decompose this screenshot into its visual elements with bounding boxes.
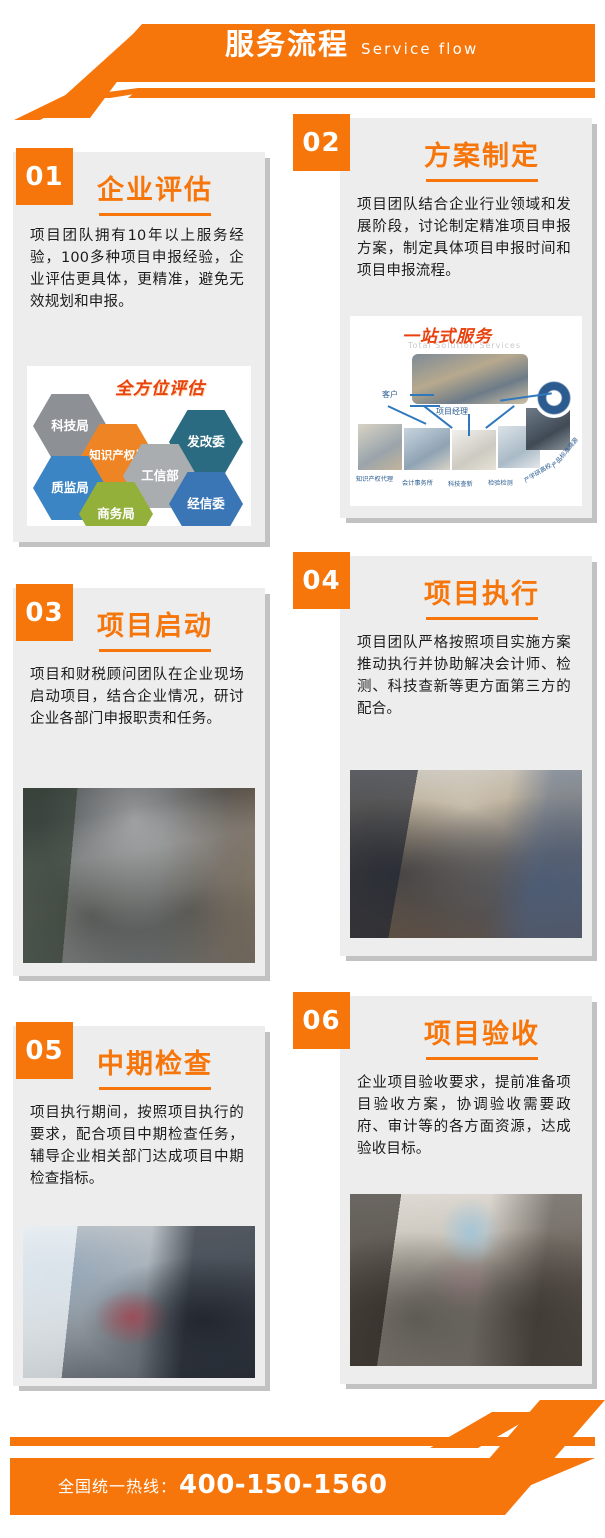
photo-detail — [350, 1194, 582, 1366]
photo-workshop-04 — [350, 770, 582, 938]
arrow-far-left — [388, 405, 427, 425]
step-card-06[interactable]: 06 项目验收 企业项目验收要求，提前准备项目验收方案，协调验收需要政府、审计等… — [340, 996, 592, 1384]
hotline-group: 全国统一热线： 400-150-1560 — [58, 1470, 388, 1500]
step-badge-03: 03 — [16, 584, 73, 641]
step-card-02[interactable]: 02 方案制定 项目团队结合企业行业领域和发展阶段，讨论制定精准项目申报方案，制… — [340, 118, 592, 518]
page-header: 服务流程 Service flow — [0, 0, 605, 118]
card-shadow — [592, 562, 597, 961]
page-title: 服务流程 — [225, 30, 349, 59]
one-stop-iso-badge — [534, 378, 574, 418]
one-stop-label-ip: 知识产权代理 — [356, 474, 393, 483]
card-title-01: 企业评估 — [97, 168, 213, 207]
arrow-down-center — [468, 414, 470, 436]
hotline-number[interactable]: 400-150-1560 — [179, 1470, 388, 1500]
hotline-label: 全国统一热线： — [58, 1473, 177, 1497]
card-shadow — [592, 124, 597, 523]
card-shadow — [265, 1032, 270, 1391]
step-card-04[interactable]: 04 项目执行 项目团队严格按照项目实施方案推动执行并协助解决会计师、检测、科技… — [340, 556, 592, 956]
photo-meeting-room-03 — [23, 788, 255, 963]
one-stop-top-photo — [412, 354, 528, 404]
hex-chart-title: 全方位评估 — [115, 374, 205, 399]
card-title-04: 项目执行 — [424, 572, 540, 611]
step-card-01[interactable]: 01 企业评估 项目团队拥有10年以上服务经验，100多种项目申报经验，企业评估… — [13, 152, 265, 542]
card-title-06: 项目验收 — [424, 1012, 540, 1051]
card-desc-06: 企业项目验收要求，提前准备项目验收方案，协调验收需要政府、审计等的各方面资源，达… — [357, 1072, 571, 1160]
photo-conference-06 — [350, 1194, 582, 1366]
arrow-left — [410, 394, 434, 396]
card-desc-03: 项目和财税顾问团队在企业现场启动项目，结合企业情况，研讨企业各部门申报职责和任务… — [30, 664, 244, 730]
step-card-03[interactable]: 03 项目启动 项目和财税顾问团队在企业现场启动项目，结合企业情况，研讨企业各部… — [13, 588, 265, 976]
step-badge-01: 01 — [16, 148, 73, 205]
photo-detail — [23, 788, 255, 963]
page-subtitle: Service flow — [361, 42, 479, 59]
card-shadow-bottom — [19, 542, 270, 547]
card-shadow — [592, 1002, 597, 1389]
card-shadow — [265, 158, 270, 547]
card-title-03: 项目启动 — [97, 604, 213, 643]
card-shadow — [265, 594, 270, 981]
service-flow-infographic: 服务流程 Service flow 01 企业评估 项目团队拥有10年以上服务经… — [0, 0, 605, 1538]
step-badge-06: 06 — [293, 992, 350, 1049]
photo-showroom-05 — [23, 1226, 255, 1378]
hex-chart: 全方位评估 科技局 知识产权局 发改委 质监局 工信部 商务局 经信委 — [27, 366, 251, 526]
card-shadow-bottom — [346, 1384, 597, 1389]
step-card-05[interactable]: 05 中期检查 项目执行期间，按照项目执行的要求，配合项目中期检查任务，辅导企业… — [13, 1026, 265, 1386]
card-desc-04: 项目团队严格按照项目实施方案推动执行并协助解决会计师、检测、科技查新等更方面第三… — [357, 632, 571, 720]
photo-detail — [23, 1226, 255, 1378]
card-title-05: 中期检查 — [97, 1042, 213, 1081]
card-shadow-bottom — [346, 518, 597, 523]
card-desc-05: 项目执行期间，按照项目执行的要求，配合项目中期检查任务，辅导企业相关部门达成项目… — [30, 1102, 244, 1190]
card-title-02: 方案制定 — [424, 134, 540, 173]
step-badge-05: 05 — [16, 1022, 73, 1079]
one-stop-label-accounting: 会计事务所 — [402, 478, 433, 487]
one-stop-label-search: 科技查新 — [448, 479, 473, 488]
card-desc-02: 项目团队结合企业行业领域和发展阶段，讨论制定精准项目申报方案，制定具体项目申报时… — [357, 194, 571, 282]
one-stop-label-testing: 检验检测 — [488, 478, 513, 487]
one-stop-thumb-accounting — [404, 428, 450, 470]
one-stop-thumb-ip — [358, 424, 402, 470]
one-stop-label-manager: 项目经理 — [436, 406, 468, 417]
one-stop-thumb-search — [452, 430, 496, 470]
one-stop-label-customer: 客户 — [382, 389, 398, 400]
card-shadow-bottom — [346, 956, 597, 961]
photo-detail — [350, 770, 582, 938]
card-shadow-bottom — [19, 1386, 270, 1391]
one-stop-subtitle: Total Solution Services — [408, 341, 521, 350]
card-shadow-bottom — [19, 976, 270, 981]
header-stripe — [128, 88, 595, 98]
card-desc-01: 项目团队拥有10年以上服务经验，100多种项目申报经验，企业评估更具体，更精准，… — [30, 225, 244, 313]
step-badge-02: 02 — [293, 114, 350, 171]
header-title-group: 服务流程 Service flow — [225, 30, 479, 59]
step-badge-04: 04 — [293, 552, 350, 609]
one-stop-service-diagram: 一站式服务 Total Solution Services 客户 项目经理 知识… — [350, 316, 582, 506]
